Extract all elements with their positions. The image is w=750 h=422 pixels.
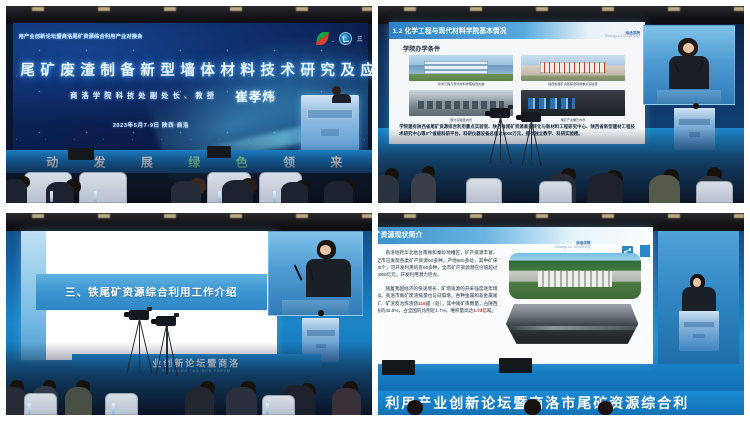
audience-shoulders [332, 388, 361, 415]
audience-shoulders [411, 173, 436, 203]
sponsor-logos: ・ 三 [317, 32, 363, 45]
chair-back [105, 393, 138, 415]
podium-nameplate [307, 330, 335, 336]
circular-emblem-logo [339, 32, 352, 45]
projected-slide: 矿资源现状简介 商洛学院 ShangLuo University 商洛地跨华北地… [378, 227, 653, 364]
slide-header-bar: 矿资源现状简介 [378, 227, 653, 243]
tailings-dam-photo [506, 304, 638, 344]
slide-title: 矿资源现状简介 [378, 230, 423, 240]
audience-row [378, 128, 744, 203]
stage-monitor-speaker [207, 146, 231, 158]
panel-bottom-right[interactable]: 矿资源现状简介 商洛学院 ShangLuo University 商洛地跨华北地… [378, 213, 744, 415]
podium-nameplate [684, 322, 715, 328]
highlight-value-2: 1.73亿 [473, 308, 487, 313]
audience-shoulders [324, 181, 353, 203]
water-bottle [273, 191, 276, 202]
stage-monitor-speaker [68, 148, 94, 160]
secondary-icon-button[interactable] [640, 245, 650, 257]
lectern-desk [657, 90, 721, 104]
audience-head [524, 399, 541, 415]
audience-shoulders [185, 387, 214, 415]
side-display-screen [268, 231, 363, 316]
slide-image-grid: 化学工程与现代材料学院综合大楼 陕西省尾矿资源综合利用重点实验室 部分实验室内景… [409, 55, 624, 122]
podium-speaker-head [693, 103, 699, 109]
slide-image-cell: 陕西省尾矿资源综合利用重点实验室 [521, 55, 624, 87]
podium-logo-plate [321, 129, 340, 136]
ceiling-lights [6, 213, 372, 231]
panel-bottom-left[interactable]: 三、铁尾矿资源综合利用工作介绍 业创新论坛暨商洛 SHANGLUO TAILIN… [6, 213, 372, 415]
audience-shoulders [378, 175, 399, 203]
podium-nameplate [679, 119, 710, 125]
audience-head [598, 401, 613, 415]
panel-top-right[interactable]: 1.2 化学工程与现代材料学院基本情况 商洛学院 ShangLuo Univer… [378, 6, 744, 203]
slide-brand-logo: 商洛学院 ShangLuo University [605, 32, 640, 39]
section-title-text: 三、铁尾矿资源综合利用工作介绍 [65, 284, 238, 299]
audience-row [6, 144, 372, 203]
water-bottle [266, 403, 269, 414]
logo-wordmark: 三 [357, 35, 363, 43]
lectern-desk [282, 300, 349, 315]
projected-slide: 1.2 化学工程与现代材料学院基本情况 商洛学院 ShangLuo Univer… [389, 22, 645, 144]
building-photo [521, 55, 624, 81]
audience-row [378, 379, 744, 415]
chair-back [79, 172, 127, 203]
speaker-name: 崔孝炜 [235, 86, 276, 105]
slide-subtitle: 学院办学条件 [403, 44, 440, 53]
presentation-title: 尾矿废渣制备新型墙体材料技术研究及应用 [20, 59, 368, 80]
water-bottle [94, 191, 97, 202]
speaker-body [682, 287, 716, 314]
image-caption: 陕西省尾矿资源综合利用重点实验室 [521, 81, 624, 86]
stage-monitor-speaker [499, 358, 532, 372]
slide-image-cell: 化学工程与现代材料学院综合大楼 [409, 55, 512, 87]
water-bottle [218, 191, 221, 202]
image-caption: 化学工程与现代材料学院综合大楼 [409, 81, 512, 86]
p2-part-c: 吨。 [487, 308, 496, 313]
highlight-value-1: 316 [418, 301, 426, 306]
chair-back [539, 181, 572, 203]
stage-monitor-speaker [382, 360, 415, 374]
audience-shoulders [171, 181, 201, 203]
microphone [293, 264, 302, 280]
speaker-title-line: 商洛学院科技处副处长、教授 [70, 91, 218, 101]
brand-en: ShangLuo University [555, 246, 590, 250]
side-display-screen [643, 25, 735, 106]
audience-shoulders [281, 182, 308, 203]
paragraph-1: 商洛地跨华北地台南缘和秦岭地槽区，矿产资源丰富。全市已发现各类矿产资源60多种，… [378, 249, 497, 279]
building-photo [409, 55, 512, 81]
green-s-logo: ・ [317, 32, 334, 45]
podium-nameplate [307, 109, 354, 119]
panel-top-left[interactable]: 用产业创新论坛暨商洛尾矿资源综合利用产业对接会 ・ 三 尾矿废渣制备新型墙体材料… [6, 6, 372, 203]
slide-brand-logo: 商洛学院 ShangLuo University [555, 242, 590, 249]
audience-shoulders [226, 387, 257, 415]
audience-shoulders [587, 173, 623, 203]
audience-shoulders [6, 179, 27, 203]
chair-back [466, 178, 503, 203]
event-eyebrow-text: 用产业创新论坛暨商洛尾矿资源综合利用产业对接会 [19, 33, 143, 40]
event-date-location: 2023年5月7-9日 陕西·商洛 [113, 121, 189, 129]
audience-head [407, 400, 423, 415]
water-bottle [28, 403, 31, 414]
water-bottle [112, 403, 115, 414]
speaker-face [683, 43, 694, 53]
audience-shoulders [649, 175, 680, 203]
section-title-bar: 三、铁尾矿资源综合利用工作介绍 [36, 274, 267, 310]
stage-podium [679, 311, 719, 351]
side-display-screen [658, 231, 739, 364]
podium-logo-plate [693, 334, 704, 338]
paragraph-2: 随着我国经济的快速增长，矿场资源的开采强度逐年增加。商洛市尾矿废渣排量也与日俱增… [378, 285, 497, 315]
audience-shoulders [65, 387, 92, 415]
brand-en: ShangLuo University [605, 35, 640, 39]
podium-speaker-body [332, 94, 351, 103]
audience-row [6, 342, 372, 415]
slide-body-text: 商洛地跨华北地台南缘和秦岭地槽区，矿产资源丰富。全市已发现各类矿产资源60多种，… [378, 249, 497, 321]
county-aerial-photo [509, 253, 641, 298]
slide-title: 1.2 化学工程与现代材料学院基本情况 [393, 25, 507, 35]
photo-collage: 用产业创新论坛暨商洛尾矿资源综合利用产业对接会 ・ 三 尾矿废渣制备新型墙体材料… [0, 0, 750, 422]
water-bottle [50, 191, 53, 202]
chair-back [696, 181, 733, 203]
audience-shoulders [222, 180, 253, 203]
